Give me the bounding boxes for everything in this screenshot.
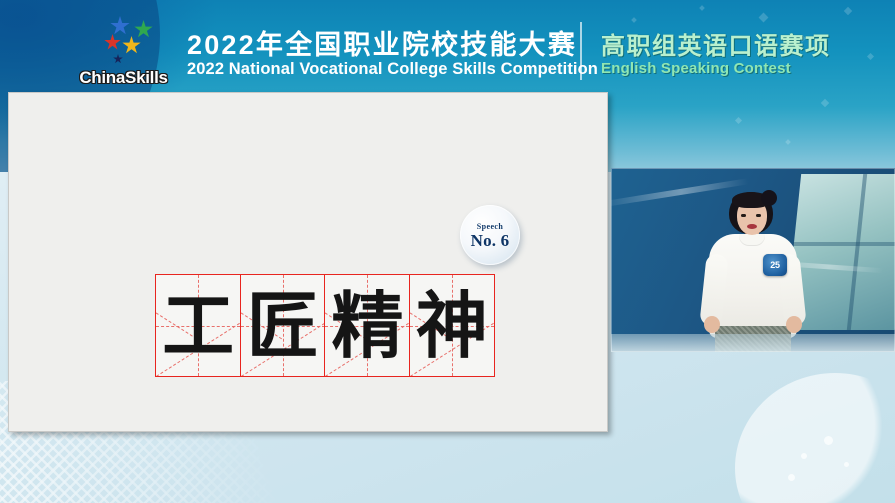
character-cell: 精 <box>324 274 410 377</box>
decor-dot <box>788 474 795 481</box>
star-green-icon <box>134 20 153 39</box>
chinese-character: 精 <box>325 275 409 376</box>
header-title-english: 2022 National Vocational College Skills … <box>187 60 598 79</box>
header-sparkle-square <box>759 13 769 23</box>
speech-badge-label: Speech <box>477 222 503 231</box>
character-cell: 匠 <box>240 274 326 377</box>
header-sparkle-square <box>867 53 874 60</box>
presentation-screen: ChinaSkills 2022年全国职业院校技能大赛 2022 Nationa… <box>0 0 895 503</box>
chinese-character-grid: 工 匠 精 神 <box>155 274 495 377</box>
logo-text-skills: Skills <box>125 68 168 87</box>
slide-panel[interactable]: Speech No. 6 工 匠 <box>8 92 608 432</box>
character-cell: 工 <box>155 274 241 377</box>
chinese-character: 工 <box>156 275 240 376</box>
video-frame-border <box>611 168 895 352</box>
speech-badge-number: No. 6 <box>471 232 510 249</box>
header-sparkle-square <box>821 99 829 107</box>
speech-number-badge: Speech No. 6 <box>460 205 520 265</box>
chinaskills-logo-text: ChinaSkills <box>66 68 181 88</box>
chinese-character: 匠 <box>241 275 325 376</box>
logo-text-china: China <box>79 68 125 87</box>
star-red-icon <box>104 34 121 51</box>
star-yellow-icon <box>122 36 141 55</box>
character-cell: 神 <box>409 274 495 377</box>
header-sparkle-square <box>844 7 852 15</box>
header-sparkle-square <box>631 17 637 23</box>
chinaskills-logo: ChinaSkills <box>66 14 181 86</box>
header-sparkle-square <box>735 117 742 124</box>
contest-name-english: English Speaking Contest <box>601 60 791 77</box>
header-sparkle-square <box>699 5 705 11</box>
contest-name-chinese: 高职组英语口语赛项 <box>601 26 831 61</box>
header-title-chinese: 2022年全国职业院校技能大赛 <box>187 23 577 62</box>
decor-dot <box>824 436 833 445</box>
speaker-video-feed[interactable]: 25 <box>611 168 895 352</box>
decor-dot <box>844 462 849 467</box>
decor-dot <box>801 453 807 459</box>
star-blue-icon <box>110 16 130 36</box>
star-navy-icon <box>113 54 123 64</box>
header-sparkle-square <box>785 139 791 145</box>
header-divider <box>580 22 582 80</box>
chinese-character: 神 <box>410 275 494 376</box>
